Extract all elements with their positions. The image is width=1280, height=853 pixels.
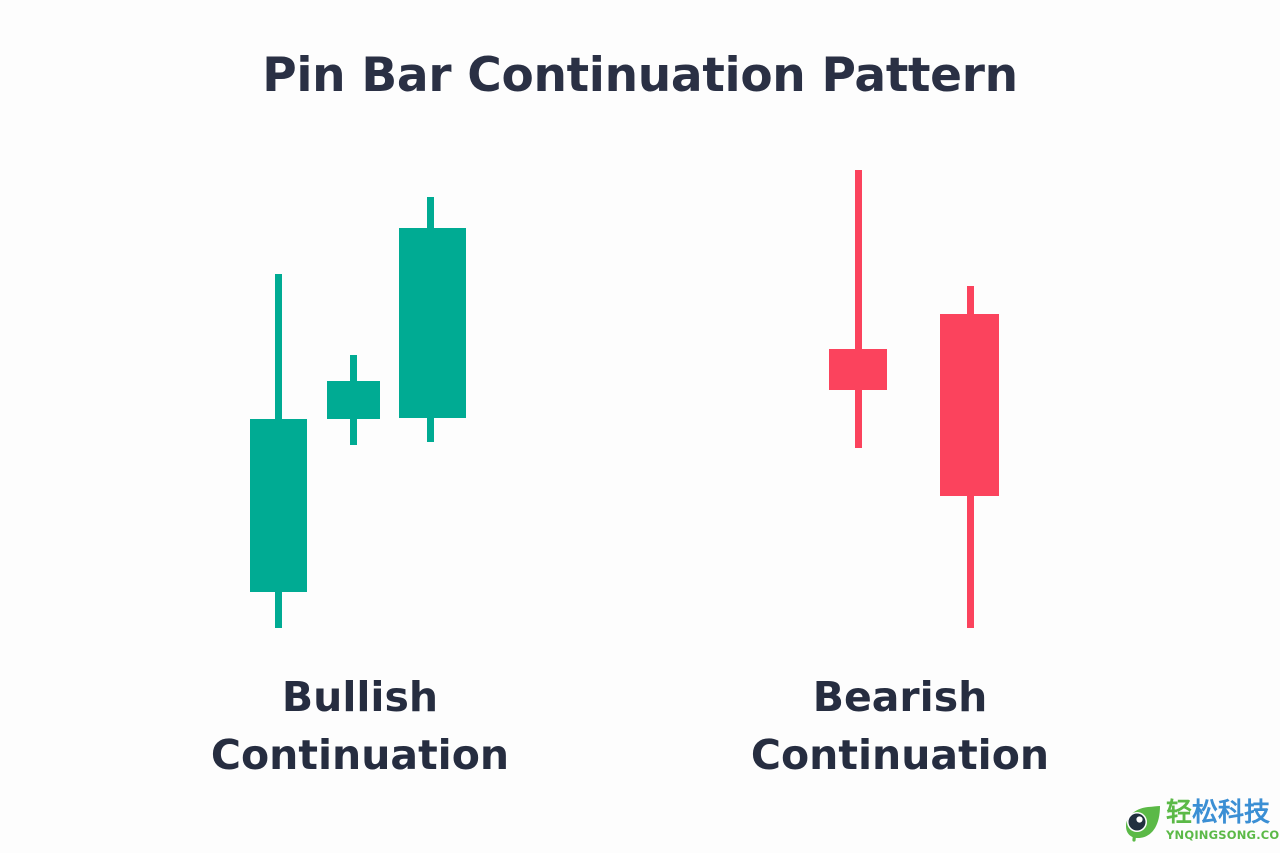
group-label-bullish-line2: Continuation xyxy=(110,726,610,784)
watermark-domain: YNQINGSONG.COM xyxy=(1166,828,1276,842)
chart-canvas: Pin Bar Continuation Pattern Bullish Con… xyxy=(0,0,1280,853)
leaf-circle-logo-icon xyxy=(1124,802,1164,842)
candlestick-wick xyxy=(855,170,862,448)
candlestick-body xyxy=(250,419,307,592)
candlestick-body xyxy=(327,381,380,419)
watermark-brand-cn: 轻松科技 xyxy=(1166,798,1276,828)
group-label-bullish-line1: Bullish xyxy=(110,668,610,726)
group-label-bearish-line2: Continuation xyxy=(650,726,1150,784)
watermark-brand-cn-rest: 松科技 xyxy=(1192,798,1270,828)
group-label-bearish-line1: Bearish xyxy=(650,668,1150,726)
watermark-brand-cn-first: 轻 xyxy=(1166,798,1192,828)
watermark-logo: 轻松科技 YNQINGSONG.COM xyxy=(1124,798,1274,850)
candlestick-body xyxy=(940,314,999,496)
group-label-bearish: Bearish Continuation xyxy=(650,668,1150,784)
group-label-bullish: Bullish Continuation xyxy=(110,668,610,784)
candlestick-body xyxy=(399,228,466,418)
candlestick-body xyxy=(829,349,887,390)
watermark-text: 轻松科技 YNQINGSONG.COM xyxy=(1166,798,1276,848)
